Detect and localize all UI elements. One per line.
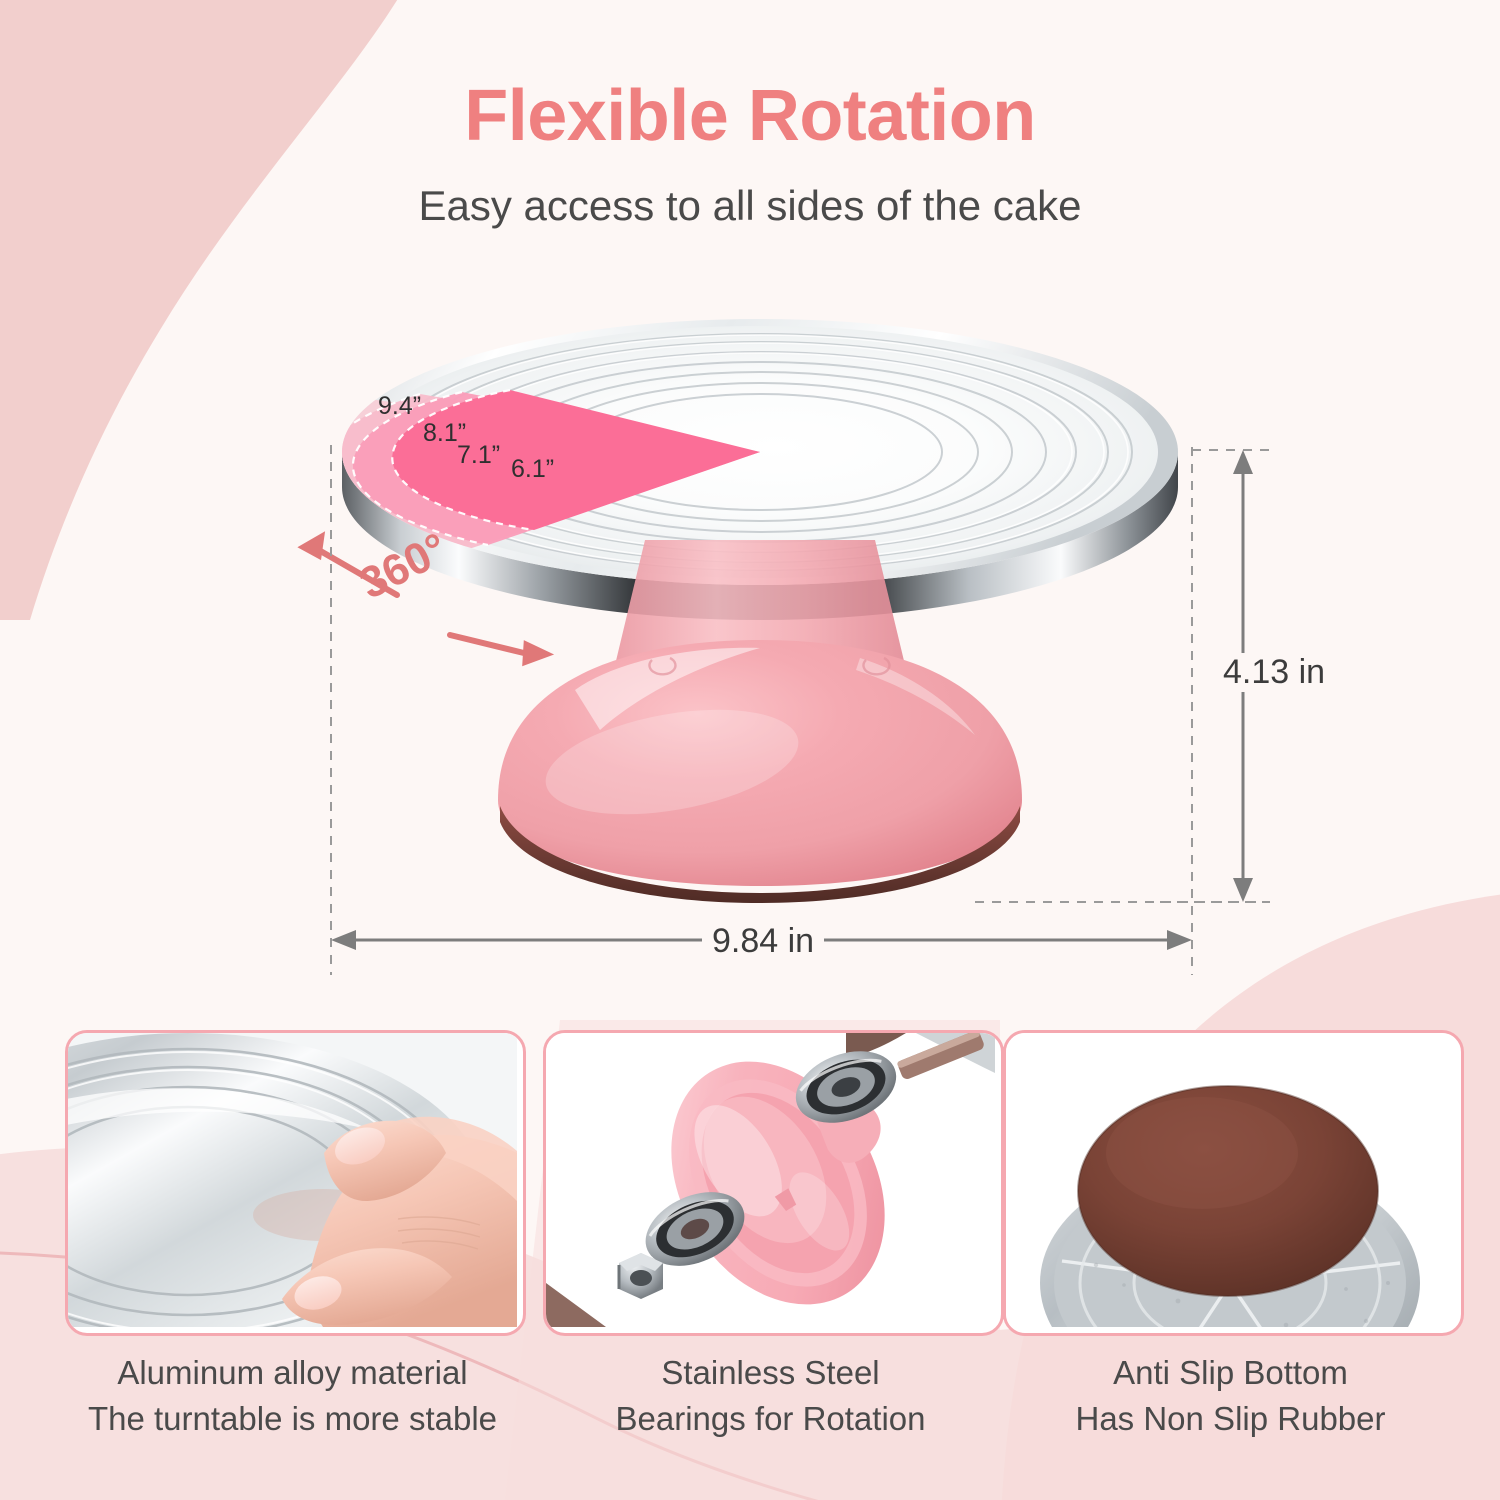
width-arrow-head-right [1167, 930, 1192, 950]
feature-panel-aluminum[interactable] [65, 1030, 526, 1336]
rotation-arrow-head-right [520, 640, 555, 670]
aluminum-turntable-surface-photo [68, 1033, 517, 1327]
cake-size-label-9-4: 9.4” [378, 392, 421, 421]
infographic-canvas: Flexible Rotation Easy access to all sid… [0, 0, 1500, 1500]
caption-line-1: Anti Slip Bottom [1113, 1354, 1348, 1391]
turntable-illustration [0, 0, 1500, 1010]
feature-caption-aluminum: Aluminum alloy material The turntable is… [65, 1350, 520, 1441]
caption-line-2: The turntable is more stable [65, 1396, 520, 1442]
pink-base-with-bearings-photo [546, 1033, 995, 1327]
feature-caption-antislip: Anti Slip Bottom Has Non Slip Rubber [1003, 1350, 1458, 1441]
feature-panel-antislip[interactable] [1003, 1030, 1464, 1336]
anti-slip-rubber-bottom-photo [1006, 1033, 1455, 1327]
caption-line-1: Stainless Steel [661, 1354, 879, 1391]
caption-line-1: Aluminum alloy material [117, 1354, 467, 1391]
cake-size-label-7-1: 7.1” [457, 441, 500, 470]
caption-line-2: Has Non Slip Rubber [1003, 1396, 1458, 1442]
feature-panels: Aluminum alloy material The turntable is… [0, 1020, 1500, 1500]
product-hero: 9.4” 8.1” 7.1” 6.1” 360° 4.13 in 9.84 in [0, 0, 1500, 1010]
feature-caption-bearings: Stainless Steel Bearings for Rotation [543, 1350, 998, 1441]
caption-line-2: Bearings for Rotation [543, 1396, 998, 1442]
height-arrow-head-top [1233, 450, 1253, 474]
width-dimension-label: 9.84 in [702, 922, 824, 961]
feature-panel-bearings[interactable] [543, 1030, 1004, 1336]
height-arrow-head-bottom [1233, 878, 1253, 902]
height-dimension-label: 4.13 in [1213, 653, 1335, 692]
cake-size-label-6-1: 6.1” [511, 455, 554, 484]
width-arrow-head-left [331, 930, 356, 950]
